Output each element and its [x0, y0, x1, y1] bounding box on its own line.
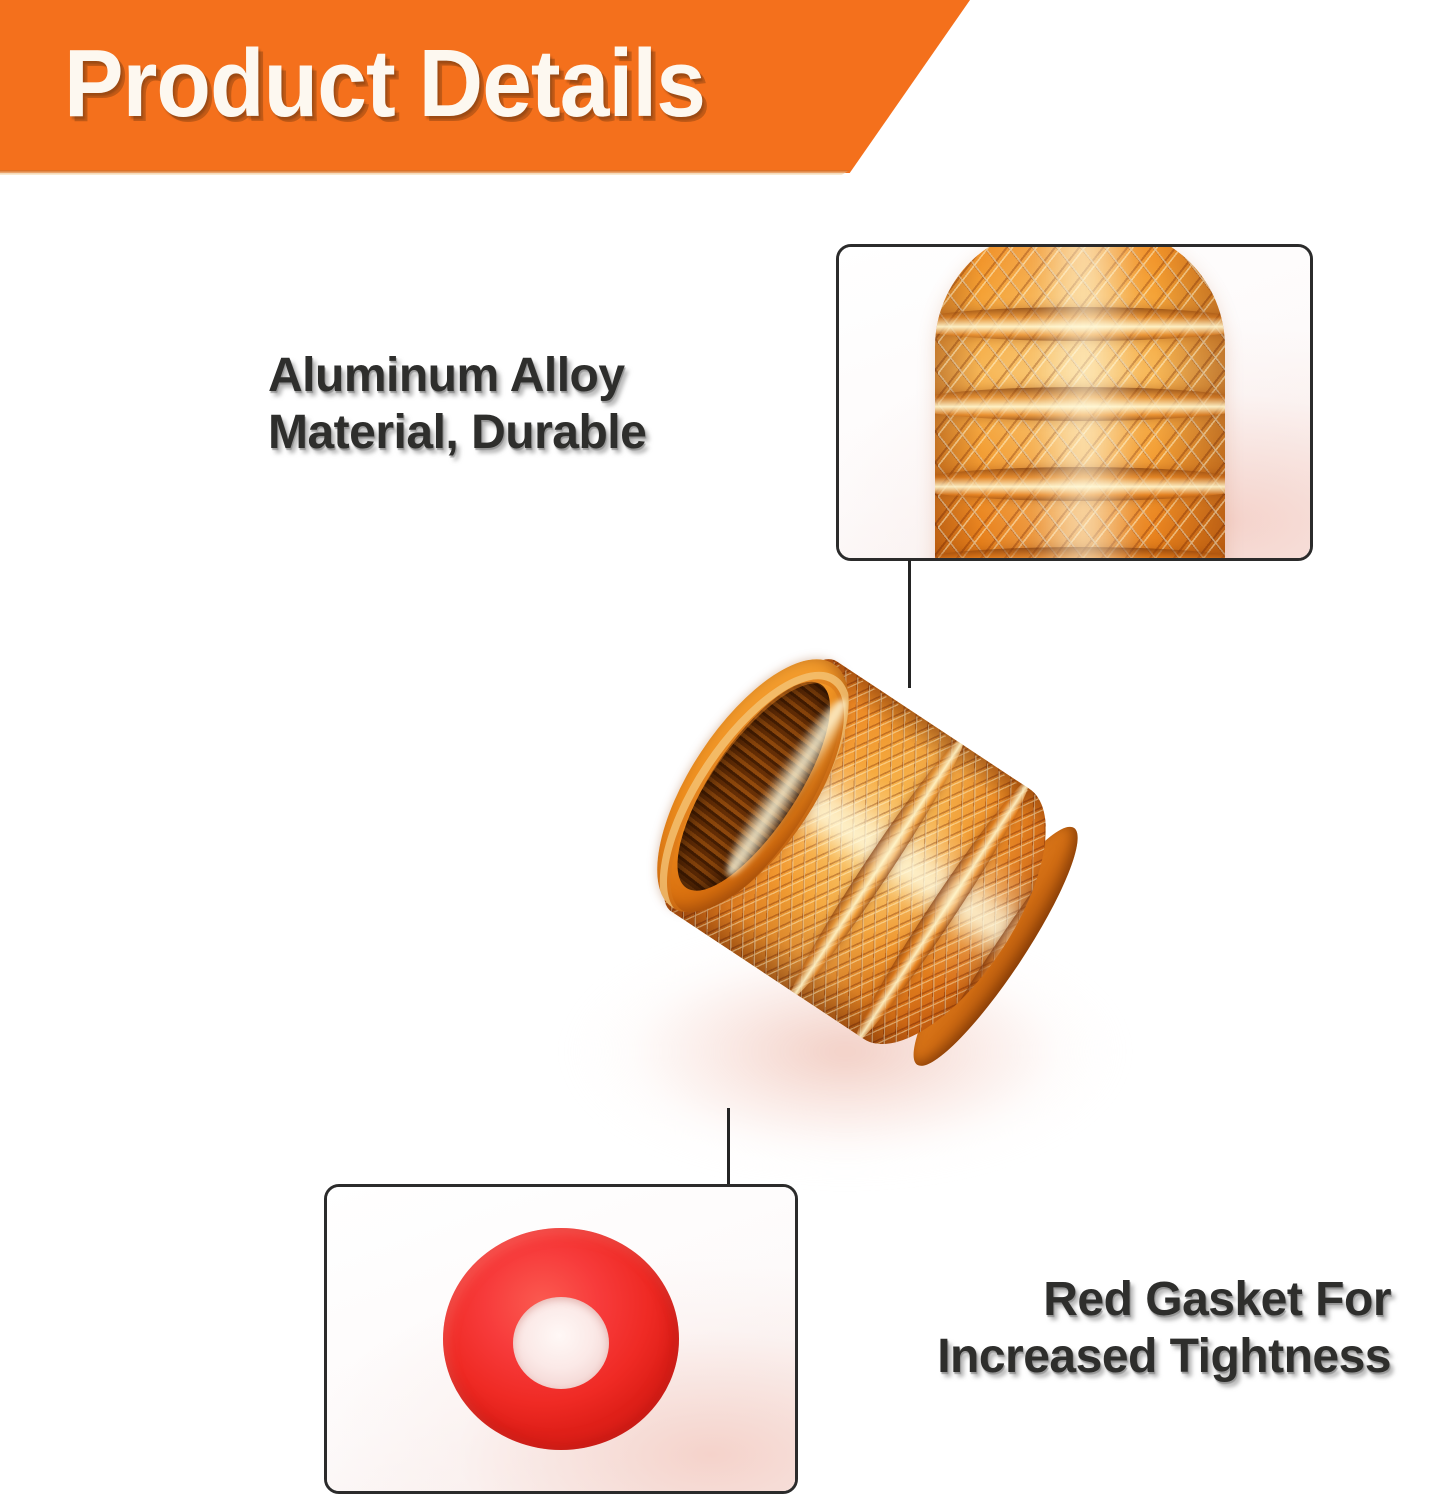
main-photo-alt-text: Orange anodized aluminum tire valve stem…	[520, 620, 521, 621]
header-banner-underline	[0, 170, 850, 175]
page-title: Product Details	[64, 28, 705, 140]
leader-line-red-gasket	[727, 1108, 730, 1186]
inset-photo-knurled-macro: Close-up macro of orange anodized alumin…	[836, 244, 1313, 561]
caption-aluminum-alloy: Aluminum Alloy Material, Durable	[268, 348, 646, 461]
infographic-canvas: Product Details Aluminum Alloy Material,…	[0, 0, 1439, 1500]
knurled-cap-macro-image	[935, 244, 1225, 561]
red-gasket-image	[443, 1228, 679, 1450]
gasket-center-hole	[513, 1297, 609, 1389]
inset-photo-red-gasket: Flat red rubber gasket washer ring with …	[324, 1184, 798, 1494]
caption-red-gasket: Red Gasket For Increased Tightness	[937, 1272, 1391, 1385]
main-product-photo: Orange anodized aluminum tire valve stem…	[520, 620, 1220, 1220]
macro-specular-highlight	[1034, 244, 1138, 561]
